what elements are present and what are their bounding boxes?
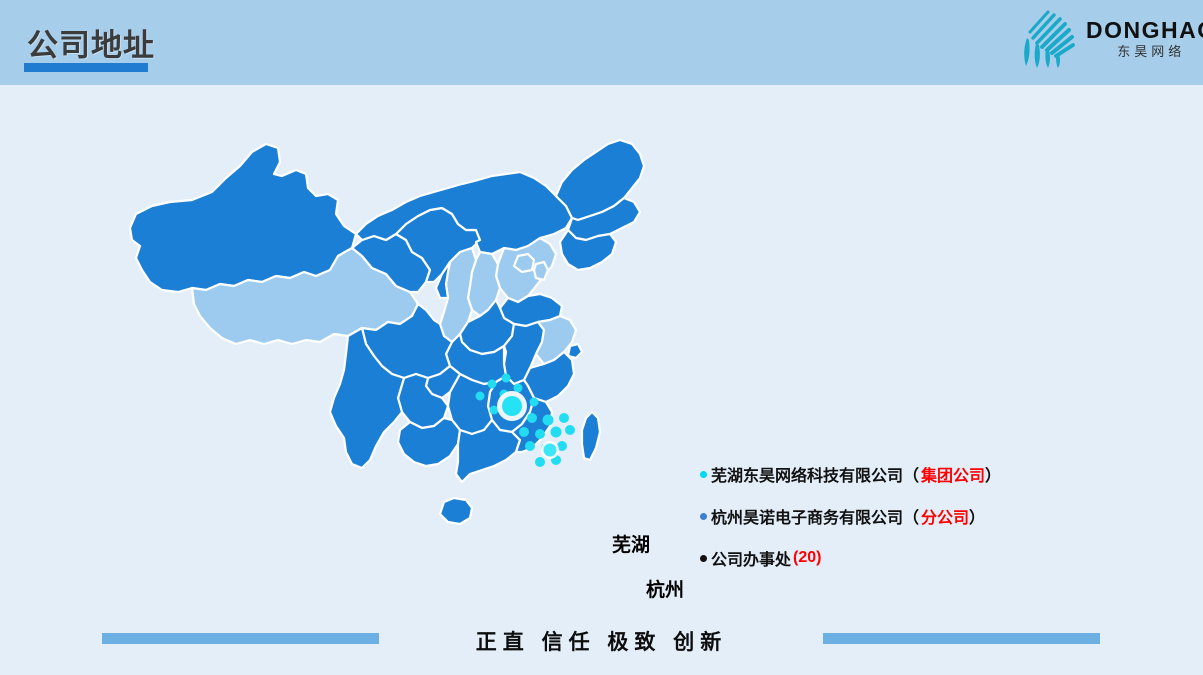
footer-bar-right [823,633,1100,644]
municipality-beijing [514,254,534,272]
map-legend: 芜湖东昊网络科技有限公司 （ 集团公司 ） 杭州昊诺电子商务有限公司 （ 分公司… [700,462,1120,588]
marker-hangzhou [541,441,559,459]
logo-text-block: DONGHAO 东昊网络 [1086,18,1203,61]
legend-label-offices: 公司办事处 [711,546,791,570]
legend-dot-cyan [700,471,707,478]
legend-dot-black [700,555,707,562]
page-title: 公司地址 [27,20,155,65]
municipality-tianjin [534,262,548,280]
map-label-wuhu: 芜湖 [612,530,650,557]
legend-paren-close-1: ） [969,504,985,528]
legend-label-group-company: 芜湖东昊网络科技有限公司 [711,462,903,486]
legend-tag-offices-count: (20) [793,549,821,567]
fan-wing-icon [1018,8,1088,70]
map-label-hangzhou: 杭州 [646,575,684,602]
legend-paren-close-0: ） [985,462,1001,486]
legend-tag-branch-company: 分公司 [921,504,969,528]
company-logo: DONGHAO 东昊网络 [1018,6,1193,76]
island-taiwan [582,412,600,460]
legend-item-branch-company: 杭州昊诺电子商务有限公司 （ 分公司 ） [700,504,1120,528]
marker-wuhu [497,391,527,421]
legend-label-branch-company: 杭州昊诺电子商务有限公司 [711,504,903,528]
legend-item-offices: 公司办事处 (20) [700,546,1120,570]
title-underline [24,63,148,72]
island-hainan [440,498,472,524]
legend-paren-open-1: （ [903,504,919,528]
china-map-container: 芜湖 杭州 [100,130,670,610]
province-xinjiang [130,144,356,292]
legend-tag-group-company: 集团公司 [921,462,985,486]
legend-dot-blue [700,513,707,520]
logo-name: DONGHAO [1086,18,1203,42]
legend-paren-open-0: （ [903,462,919,486]
page-header: 公司地址 DONGHAO 东昊网络 [0,0,1203,85]
municipality-shanghai [568,344,582,358]
china-map [100,130,670,610]
logo-subtitle: 东昊网络 [1086,43,1203,61]
legend-item-group-company: 芜湖东昊网络科技有限公司 （ 集团公司 ） [700,462,1120,486]
